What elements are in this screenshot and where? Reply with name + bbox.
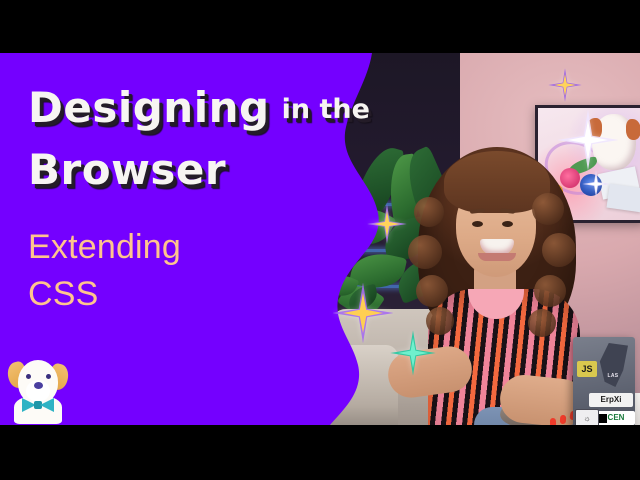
video-player-stage: LAS JS ErpXi CEN ☼ Designingin the Brows… <box>0 0 640 480</box>
sticker-cen-label: CEN <box>608 414 625 422</box>
dog-nose <box>34 382 43 389</box>
dog-eye <box>46 374 51 379</box>
sticker-state: LAS <box>598 343 628 387</box>
sparkle-core <box>587 175 605 193</box>
laptop: LAS JS ErpXi CEN ☼ <box>573 337 635 425</box>
sticker-erp: ErpXi <box>589 393 633 407</box>
sparkle-art-icon <box>554 74 576 96</box>
sticker-js: JS <box>577 361 597 377</box>
letterbox-top <box>0 0 640 53</box>
video-frame: LAS JS ErpXi CEN ☼ Designingin the Brows… <box>0 53 640 425</box>
lower-lip <box>478 253 516 261</box>
sparkle-core <box>554 74 576 96</box>
sparkle-core <box>343 293 383 333</box>
sparkle-plant-icon <box>374 211 400 237</box>
hair-curl <box>416 275 448 307</box>
sparkle-arm-icon <box>343 293 383 333</box>
dog-bowtie <box>22 398 54 412</box>
sticker-cen: CEN <box>597 411 635 425</box>
fingernail <box>550 418 556 425</box>
hair-curl <box>426 307 454 335</box>
eye <box>472 221 483 227</box>
sparkle-frame-icon <box>587 175 605 193</box>
sparkle-core <box>568 120 608 160</box>
sticker-state-label: LAS <box>608 374 619 379</box>
hair-curl <box>528 309 556 337</box>
dog-logo <box>6 354 70 422</box>
sticker-controller: ☼ <box>575 409 599 425</box>
hair-curl <box>532 193 564 225</box>
sparkle-wall-icon <box>568 120 608 160</box>
sparkle-lap-icon <box>398 338 428 368</box>
sparkle-core <box>374 211 400 237</box>
fingernail <box>560 415 567 424</box>
letterbox-bottom <box>0 425 640 480</box>
dog-eye <box>26 374 31 379</box>
sparkle-core <box>398 338 428 368</box>
hair-curl <box>542 233 576 267</box>
eye <box>502 221 513 227</box>
dog-bowtie-knot <box>34 401 42 409</box>
hair-curl <box>534 275 566 307</box>
